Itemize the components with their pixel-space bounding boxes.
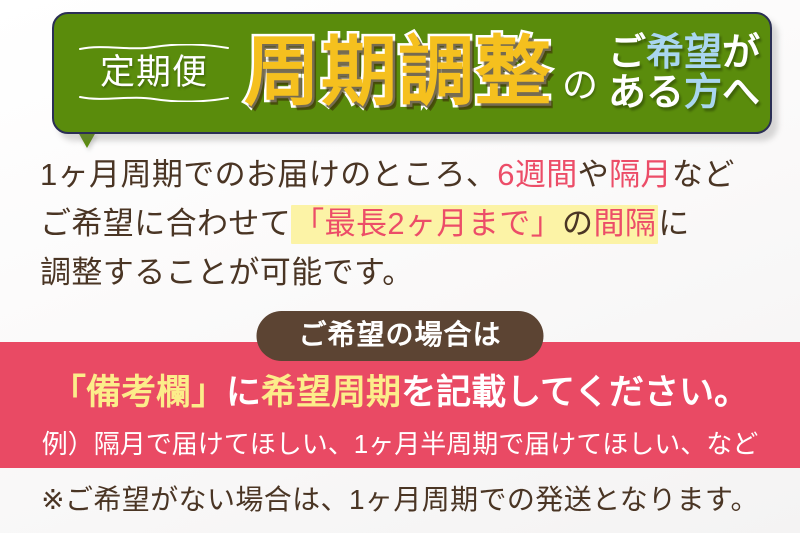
squiggle-top-icon (78, 44, 230, 52)
body-copy: 1ヶ月周期でのお届けのところ、6週間や隔月など ご希望に合わせて「最長2ヶ月まで… (40, 150, 770, 297)
body-line-1-part-1: 1ヶ月周期でのお届けのところ、 (40, 157, 497, 192)
subscription-badge-label: 定期便 (70, 52, 238, 93)
body-line-1: 1ヶ月周期でのお届けのところ、6週間や隔月など (40, 150, 770, 199)
subscription-badge: 定期便 (70, 44, 238, 101)
body-line-2-plain: の (562, 206, 593, 241)
body-line-2-marker: 「最長2ヶ月まで」の間隔 (291, 205, 658, 244)
body-line-2-part-2: に (658, 206, 689, 241)
body-line-1-accent-1: 6週間 (497, 157, 577, 192)
body-line-2-accent-1: 「最長2ヶ月まで」 (293, 206, 562, 241)
sub-line-1-suffix: が (722, 32, 760, 74)
sub-headline: ご希望が ある方へ (608, 33, 760, 114)
callout-example-line: 例）隔月で届けてほしい、1ヶ月半周期で届けてほしい、など (0, 424, 800, 461)
sub-line-1-prefix: ご (608, 32, 646, 74)
sub-line-2-highlight: 方 (684, 72, 722, 114)
callout-accent-2: 希望周期 (261, 373, 401, 412)
body-line-1-part-2: や (578, 157, 609, 192)
squiggle-bottom-icon (78, 94, 230, 102)
speech-bubble-tail (78, 132, 96, 148)
title-particle: の (562, 56, 598, 108)
header-speech-bubble: 定期便 周期調整 の ご希望が ある方へ (52, 12, 772, 134)
body-line-2: ご希望に合わせて「最長2ヶ月まで」の間隔に (40, 199, 770, 248)
sub-line-1-highlight: 希望 (646, 32, 722, 74)
promotional-banner: 定期便 周期調整 の ご希望が ある方へ 1ヶ月周期でのお届けのところ、6週間や… (0, 0, 800, 533)
sub-line-2-prefix: ある (608, 72, 684, 114)
callout-plain-2: を記載してください。 (401, 373, 749, 412)
body-line-1-accent-2: 隔月 (609, 157, 672, 192)
footer-note: ※ご希望がない場合は、1ヶ月周期での発送となります。 (0, 478, 800, 518)
callout-accent-1: 「備考欄」 (51, 373, 226, 412)
body-line-2-accent-2: 間隔 (593, 206, 656, 241)
body-line-2-part-1: ご希望に合わせて (40, 206, 291, 241)
sub-headline-line-1: ご希望が (608, 33, 760, 73)
callout-pill-label: ご希望の場合は (256, 311, 543, 361)
sub-headline-line-2: ある方へ (608, 73, 760, 113)
page-title: 周期調整 (244, 35, 552, 111)
sub-line-2-suffix: へ (722, 72, 760, 114)
callout-main-line: 「備考欄」に希望周期を記載してください。 (0, 364, 800, 415)
callout-plain-1: に (226, 373, 261, 412)
body-line-1-part-3: など (672, 157, 735, 192)
body-line-3: 調整することが可能です。 (40, 248, 770, 297)
